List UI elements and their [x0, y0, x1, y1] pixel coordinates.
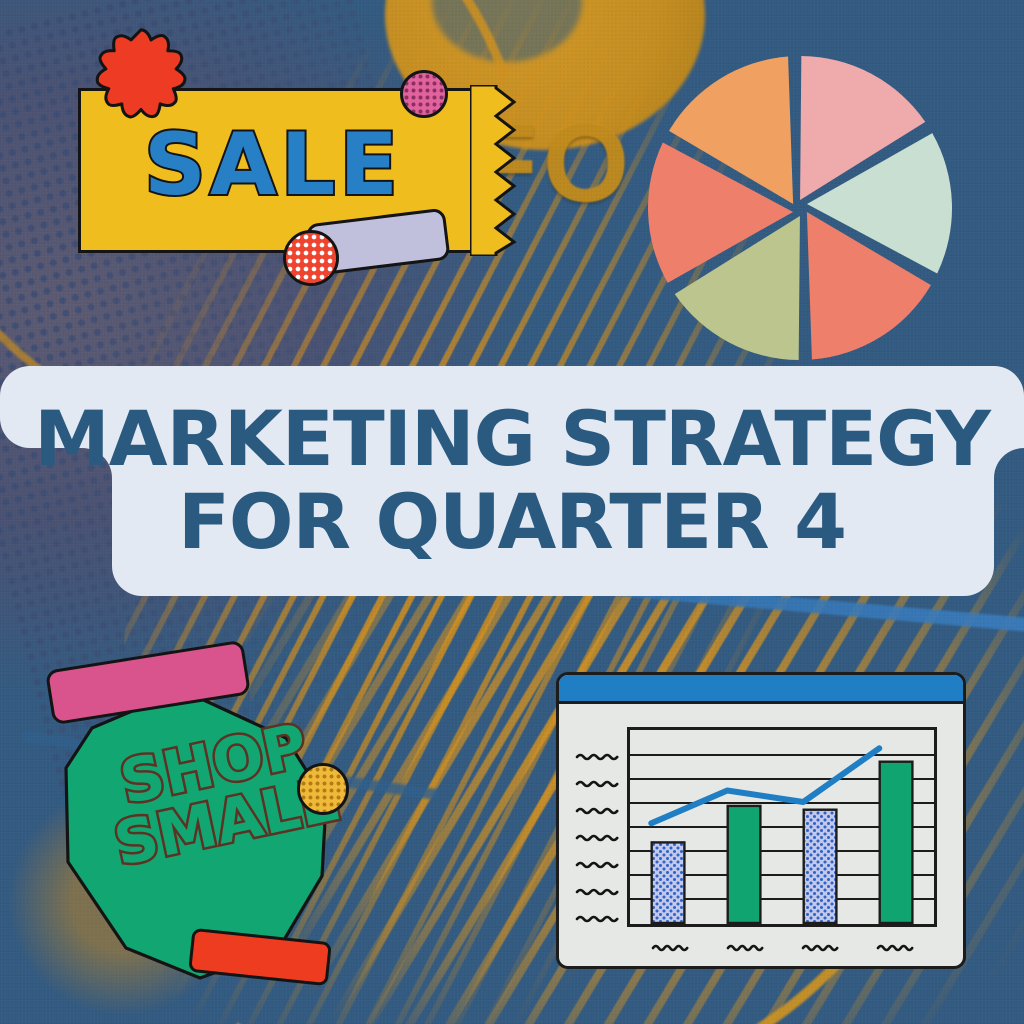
x-axis-tick-labels [633, 937, 933, 959]
poster-canvas: FO SALE MARKETING STRATEGY FOR QUARTER 4 [0, 0, 1024, 1024]
y-tick-squiggle [577, 755, 617, 759]
chart-bar [728, 806, 761, 923]
pie-chart [630, 50, 970, 370]
headline-line-1: MARKETING STRATEGY [34, 403, 990, 476]
chart-card-header [559, 675, 963, 704]
y-tick-squiggle [577, 917, 617, 921]
y-tick-squiggle [577, 890, 617, 894]
shop-small-badge: SHOP SMALL [30, 640, 380, 1000]
chart-card [556, 672, 966, 969]
chart-bar [652, 842, 685, 923]
x-tick-squiggle [728, 946, 762, 950]
y-tick-squiggle [577, 863, 617, 867]
chart-bar [880, 762, 913, 923]
x-tick-squiggle [653, 946, 687, 950]
sale-label: SALE [108, 122, 438, 208]
y-tick-squiggle [577, 782, 617, 786]
x-tick-squiggle [803, 946, 837, 950]
y-tick-squiggle [577, 809, 617, 813]
headline-banner: MARKETING STRATEGY FOR QUARTER 4 [0, 366, 1024, 596]
headline-line-2: FOR QUARTER 4 [178, 486, 846, 559]
pink-dotted-circle-icon [400, 70, 448, 118]
sale-ticket-zigzag-edge [470, 85, 530, 256]
starburst-icon [93, 26, 189, 122]
pie-slice-group [648, 56, 952, 360]
y-tick-squiggle [577, 836, 617, 840]
headline-text-block: MARKETING STRATEGY FOR QUARTER 4 [0, 366, 1024, 596]
orange-dotted-circle-icon [297, 763, 349, 815]
x-tick-squiggle [878, 946, 912, 950]
bar-chart-plot [627, 727, 937, 927]
red-dotted-circle-icon [283, 230, 339, 286]
pie-chart-svg [630, 50, 970, 370]
y-axis-tick-labels [573, 745, 623, 935]
chart-bar [804, 810, 837, 923]
